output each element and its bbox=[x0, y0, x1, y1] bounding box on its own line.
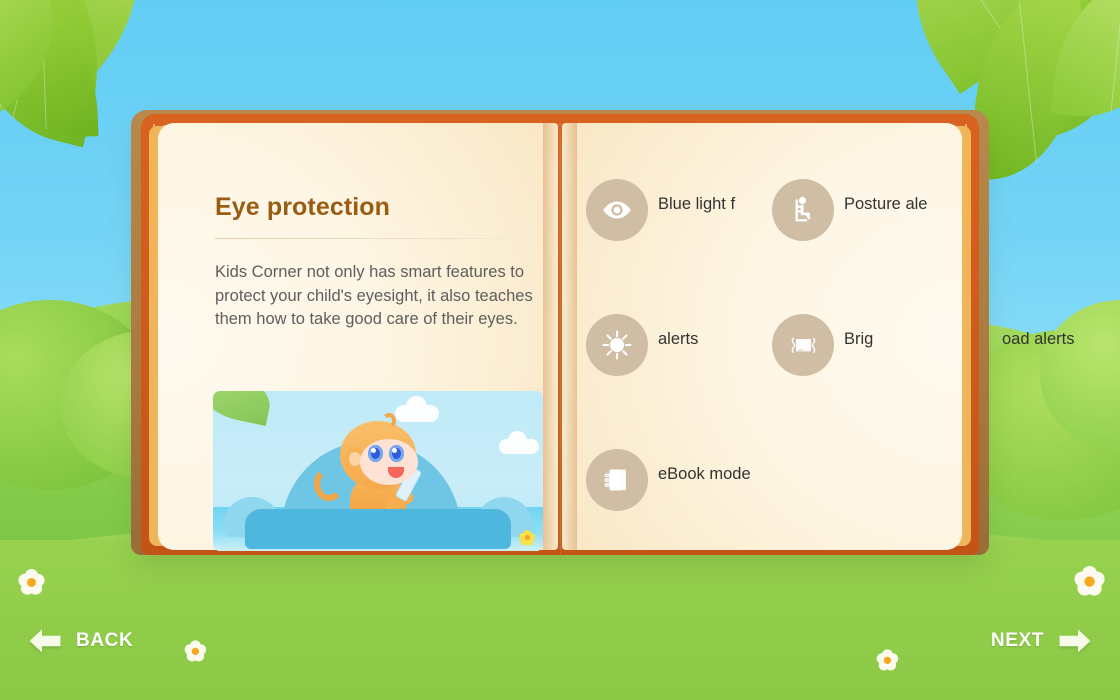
monkey-eye-left bbox=[368, 445, 383, 462]
feature-label-overflow: oad alerts bbox=[1002, 328, 1074, 350]
feature-label: eBook mode bbox=[658, 463, 751, 485]
page-title: Eye protection bbox=[215, 193, 565, 222]
feature-item-blue-light-filter[interactable]: Blue light f bbox=[586, 179, 772, 314]
feature-label: Blue light f bbox=[658, 193, 735, 215]
book-page-left: Eye protection Kids Corner not only has … bbox=[158, 123, 558, 550]
shaking-tablet-icon bbox=[772, 314, 834, 376]
monkey-face bbox=[360, 439, 418, 485]
arrow-left-icon bbox=[28, 626, 62, 656]
feature-item-shaking-device-alerts[interactable]: Brig oad alerts bbox=[772, 314, 958, 449]
page-body-text: Kids Corner not only has smart features … bbox=[215, 261, 567, 332]
left-page-content: Eye protection Kids Corner not only has … bbox=[215, 193, 565, 332]
ebook-notebook-icon bbox=[586, 449, 648, 511]
sofa-seat bbox=[245, 509, 511, 549]
feature-grid: Blue light f bbox=[586, 179, 946, 584]
monkey-character bbox=[328, 417, 428, 523]
feature-label: Posture ale bbox=[844, 193, 927, 215]
cloud-icon bbox=[499, 439, 539, 454]
posture-sitting-icon bbox=[772, 179, 834, 241]
monkey-hair-curl bbox=[382, 413, 396, 429]
arrow-right-icon bbox=[1058, 626, 1092, 656]
daisy-flower-icon bbox=[1074, 567, 1104, 595]
feature-label: Brig bbox=[844, 328, 873, 350]
daisy-flower-icon bbox=[519, 530, 535, 545]
feature-label: alerts bbox=[658, 328, 698, 350]
monkey-eye-right bbox=[389, 445, 404, 462]
feature-item-posture-alerts[interactable]: Posture ale bbox=[772, 179, 958, 314]
daisy-flower-icon bbox=[876, 650, 897, 670]
feature-item-ebook-mode[interactable]: eBook mode bbox=[586, 449, 772, 584]
grass-band bbox=[0, 540, 1120, 700]
open-book: Eye protection Kids Corner not only has … bbox=[131, 110, 989, 560]
feature-item-brightness-alerts[interactable]: alerts bbox=[586, 314, 772, 449]
monkey-using-phone-illustration bbox=[213, 391, 543, 551]
eye-icon bbox=[586, 179, 648, 241]
daisy-flower-icon bbox=[184, 641, 205, 661]
next-button[interactable]: NEXT bbox=[991, 626, 1092, 656]
book-page-right: Blue light f bbox=[562, 123, 962, 550]
monkey-head bbox=[340, 421, 416, 489]
back-button-label: BACK bbox=[76, 630, 133, 652]
title-divider bbox=[215, 238, 555, 239]
monkey-tail bbox=[314, 467, 344, 501]
back-button[interactable]: BACK bbox=[28, 626, 133, 656]
daisy-flower-icon bbox=[18, 570, 44, 594]
next-button-label: NEXT bbox=[991, 630, 1044, 652]
feature-list: Blue light f bbox=[586, 179, 946, 519]
brightness-sun-icon bbox=[586, 314, 648, 376]
